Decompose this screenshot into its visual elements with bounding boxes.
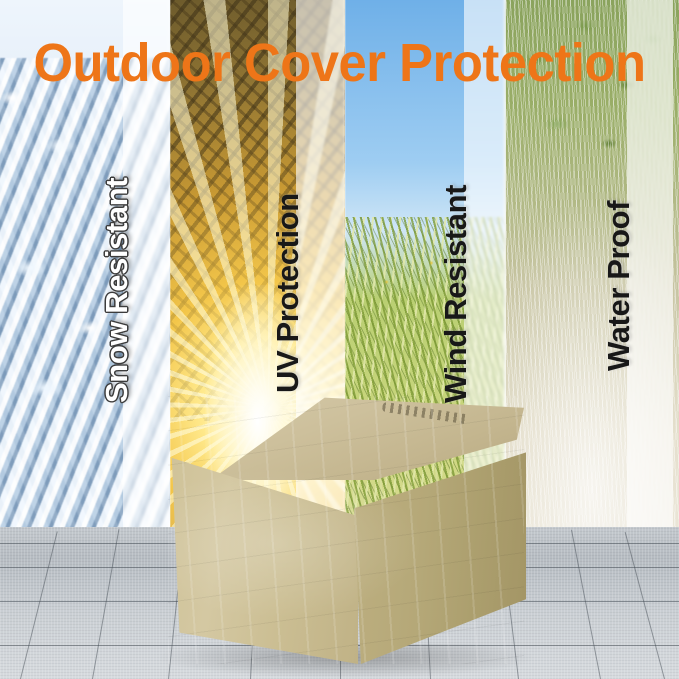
feature-label-wind-resistant: Wind Resistant	[440, 185, 471, 403]
outdoor-furniture-cover	[168, 396, 524, 664]
cover-right-face	[354, 448, 526, 664]
feature-label-water-proof: Water Proof	[603, 201, 634, 371]
feature-label-snow-resistant: Snow Resistant	[101, 178, 132, 403]
product-feature-banner: Snow Resistant UV Protection Wind Resist…	[0, 0, 679, 679]
feature-label-uv-protection: UV Protection	[272, 193, 303, 393]
page-title: Outdoor Cover Protection	[20, 36, 658, 90]
cover-top-face	[168, 396, 524, 480]
